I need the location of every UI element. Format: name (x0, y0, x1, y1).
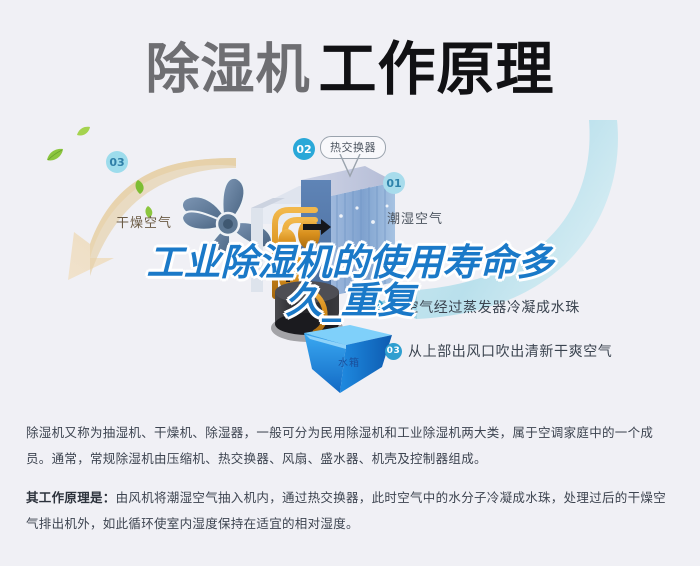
watermark-overlay-text: 工业除湿机的使用寿命多 久_重复 (0, 244, 700, 321)
leaf-icon (134, 180, 147, 195)
badge-03: 03 (106, 151, 128, 173)
page-root: 除湿机工作原理 (0, 0, 700, 566)
body-paragraph-2-rest: 由风机将潮湿空气抽入机内，通过热交换器，此时空气中的水分子冷凝成水珠，处理过后的… (26, 490, 666, 531)
title-black-part: 工作原理 (318, 35, 554, 103)
body-paragraph-1: 除湿机又称为抽湿机、干燥机、除湿器，一般可分为民用除湿机和工业除湿机两大类，属于… (26, 420, 678, 471)
leaf-icon (76, 126, 91, 137)
step-text-03: 从上部出风口吹出清新干爽空气 (408, 341, 612, 361)
dry-air-label: 干燥空气 (116, 212, 172, 231)
humid-air-label: 潮湿空气 (387, 208, 443, 227)
badge-02: 02 (293, 138, 315, 160)
title-gray-part: 除湿机 (145, 38, 310, 101)
leaf-icon (46, 148, 64, 162)
article-body: 除湿机又称为抽湿机、干燥机、除湿器，一般可分为民用除湿机和工业除湿机两大类，属于… (26, 420, 678, 537)
step-caption-03: 03 从上部出风口吹出清新干爽空气 (385, 341, 612, 361)
badge-01: 01 (383, 172, 405, 194)
body-paragraph-2-lead: 其工作原理是： (26, 490, 116, 505)
callout-stem-icon (338, 154, 362, 178)
step-badge-03: 03 (385, 343, 402, 360)
page-title: 除湿机工作原理 (0, 22, 700, 106)
body-paragraph-2: 其工作原理是：由风机将潮湿空气抽入机内，通过热交换器，此时空气中的水分子冷凝成水… (26, 485, 678, 536)
tank-label: 水箱 (338, 354, 360, 369)
